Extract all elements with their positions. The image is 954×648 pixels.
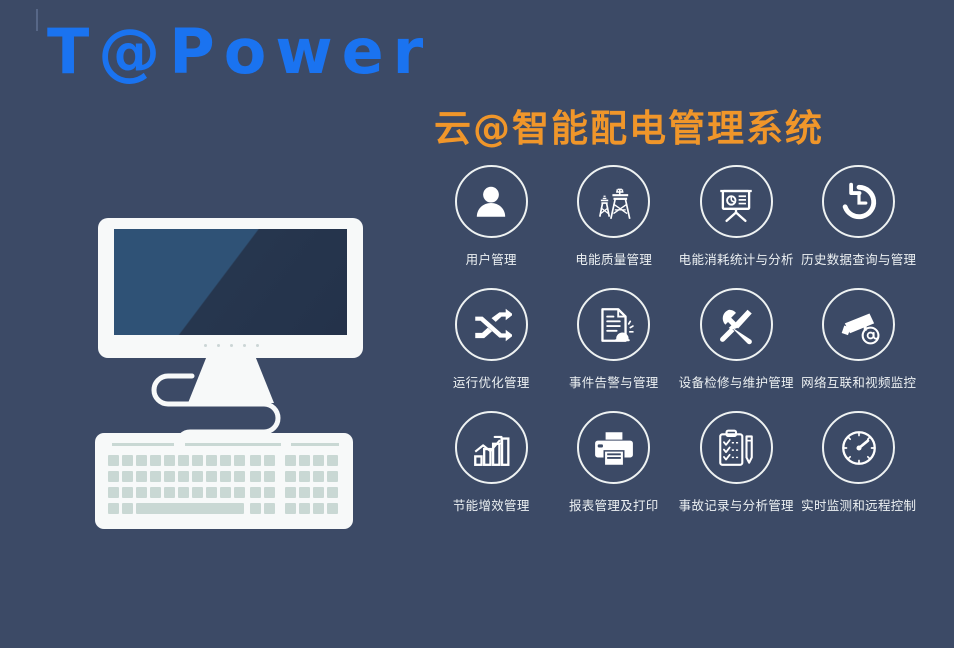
decorative-tick-artifact (36, 9, 38, 31)
keyboard-key (108, 471, 119, 482)
feature-item-clipboard-checklist-pen[interactable]: 事故记录与分析管理 (675, 411, 798, 514)
feature-item-document-alarm[interactable]: 事件告警与管理 (553, 288, 676, 391)
keyboard-key (285, 455, 296, 466)
keyboard-key (108, 455, 119, 466)
keyboard-key (299, 487, 310, 498)
feature-item-gauge[interactable]: 实时监测和远程控制 (798, 411, 921, 514)
keyboard-key (327, 455, 338, 466)
keyboard-key (264, 487, 275, 498)
monitor-screen (114, 229, 347, 335)
user-icon (470, 181, 512, 223)
feature-icon-circle (455, 165, 528, 238)
keyboard-key (264, 503, 275, 514)
feature-item-power-tower[interactable]: 电能质量管理 (553, 165, 676, 268)
keyboard-key (250, 487, 261, 498)
keyboard-key (299, 503, 310, 514)
feature-label: 实时监测和远程控制 (801, 495, 916, 514)
keyboard-key (327, 503, 338, 514)
feature-icon-circle (700, 288, 773, 361)
keyboard-key (220, 455, 231, 466)
feature-icon-circle (577, 411, 650, 484)
feature-label: 事件告警与管理 (569, 372, 659, 391)
keyboard-key-spacebar (136, 503, 244, 514)
printer-icon (593, 427, 635, 469)
keyboard-key (313, 455, 324, 466)
monitor-indicator-dot (230, 344, 233, 347)
feature-item-wrench-screwdriver[interactable]: 设备检修与维护管理 (675, 288, 798, 391)
keyboard-top-bar (185, 443, 281, 446)
keyboard-key (178, 487, 189, 498)
page-title: T@Power (47, 18, 432, 86)
keyboard-key (264, 471, 275, 482)
keyboard-key (178, 471, 189, 482)
keyboard-key (164, 471, 175, 482)
keyboard-key (299, 455, 310, 466)
page-subtitle: 云@智能配电管理系统 (434, 98, 824, 152)
shuffle-arrows-icon (470, 304, 512, 346)
monitor-indicator-dot (243, 344, 246, 347)
keyboard-key (220, 487, 231, 498)
keyboard-key (108, 503, 119, 514)
keyboard-key (234, 455, 245, 466)
keyboard-key (285, 487, 296, 498)
keyboard-key (250, 503, 261, 514)
keyboard-key (206, 471, 217, 482)
feature-label: 历史数据查询与管理 (801, 249, 916, 268)
feature-icon-circle (700, 411, 773, 484)
feature-label: 节能增效管理 (453, 495, 530, 514)
feature-item-presentation-chart[interactable]: 电能消耗统计与分析 (675, 165, 798, 268)
keyboard-key (206, 487, 217, 498)
keyboard-top-bar (291, 443, 339, 446)
feature-item-user[interactable]: 用户管理 (430, 165, 553, 268)
keyboard-key (206, 455, 217, 466)
keyboard-key (264, 455, 275, 466)
wrench-screwdriver-icon (715, 304, 757, 346)
keyboard-key (220, 471, 231, 482)
keyboard-key (150, 487, 161, 498)
keyboard-key (164, 487, 175, 498)
keyboard-key (136, 471, 147, 482)
keyboard-key (178, 455, 189, 466)
keyboard-key (136, 487, 147, 498)
feature-label: 电能质量管理 (575, 249, 652, 268)
presentation-chart-icon (715, 181, 757, 223)
keyboard-key (299, 471, 310, 482)
keyboard-key (122, 503, 133, 514)
keyboard[interactable] (95, 433, 353, 529)
keyboard-key (164, 455, 175, 466)
keyboard-top-bar (112, 443, 174, 446)
monitor-bezel (98, 218, 363, 358)
feature-icon-circle (455, 411, 528, 484)
keyboard-key (192, 455, 203, 466)
feature-item-printer[interactable]: 报表管理及打印 (553, 411, 676, 514)
feature-icon-circle (455, 288, 528, 361)
feature-label: 用户管理 (466, 249, 517, 268)
keyboard-key (150, 455, 161, 466)
keyboard-key (192, 471, 203, 482)
keyboard-key (285, 471, 296, 482)
keyboard-key (313, 487, 324, 498)
keyboard-key (136, 455, 147, 466)
keyboard-key (122, 455, 133, 466)
computer-illustration (90, 218, 380, 538)
keyboard-key (327, 471, 338, 482)
feature-label: 网络互联和视频监控 (801, 372, 916, 391)
feature-icon-circle (822, 411, 895, 484)
monitor-indicator-dot (204, 344, 207, 347)
keyboard-key (108, 487, 119, 498)
feature-icon-circle (700, 165, 773, 238)
feature-label: 设备检修与维护管理 (679, 372, 794, 391)
keyboard-key (234, 471, 245, 482)
clock-history-icon (838, 181, 880, 223)
document-alarm-icon (593, 304, 635, 346)
keyboard-key (327, 487, 338, 498)
keyboard-key (250, 455, 261, 466)
feature-icon-circle (577, 288, 650, 361)
keyboard-key (150, 471, 161, 482)
keyboard-key (122, 471, 133, 482)
feature-item-growth-bar-chart[interactable]: 节能增效管理 (430, 411, 553, 514)
feature-grid: 用户管理电能质量管理电能消耗统计与分析历史数据查询与管理运行优化管理事件告警与管… (430, 165, 920, 514)
clipboard-checklist-pen-icon (715, 427, 757, 469)
feature-icon-circle (822, 288, 895, 361)
feature-item-clock-history[interactable]: 历史数据查询与管理 (798, 165, 921, 268)
gauge-icon (838, 427, 880, 469)
keyboard-key (285, 503, 296, 514)
security-camera-at-icon (838, 304, 880, 346)
growth-bar-chart-icon (470, 427, 512, 469)
monitor-indicator-dot (256, 344, 259, 347)
feature-icon-circle (577, 165, 650, 238)
keyboard-key (234, 487, 245, 498)
feature-icon-circle (822, 165, 895, 238)
keyboard-key (250, 471, 261, 482)
feature-label: 运行优化管理 (453, 372, 530, 391)
feature-item-shuffle-arrows[interactable]: 运行优化管理 (430, 288, 553, 391)
keyboard-key (313, 471, 324, 482)
feature-label: 报表管理及打印 (569, 495, 659, 514)
monitor-indicator-dot (217, 344, 220, 347)
feature-label: 电能消耗统计与分析 (679, 249, 794, 268)
power-tower-icon (593, 181, 635, 223)
poster-canvas: T@Power 云@智能配电管理系统 用户管理电能质量管理电能消耗统计与分析历史… (0, 0, 954, 648)
feature-label: 事故记录与分析管理 (679, 495, 794, 514)
keyboard-key (313, 503, 324, 514)
keyboard-key (192, 487, 203, 498)
feature-item-security-camera-at[interactable]: 网络互联和视频监控 (798, 288, 921, 391)
keyboard-key (122, 487, 133, 498)
